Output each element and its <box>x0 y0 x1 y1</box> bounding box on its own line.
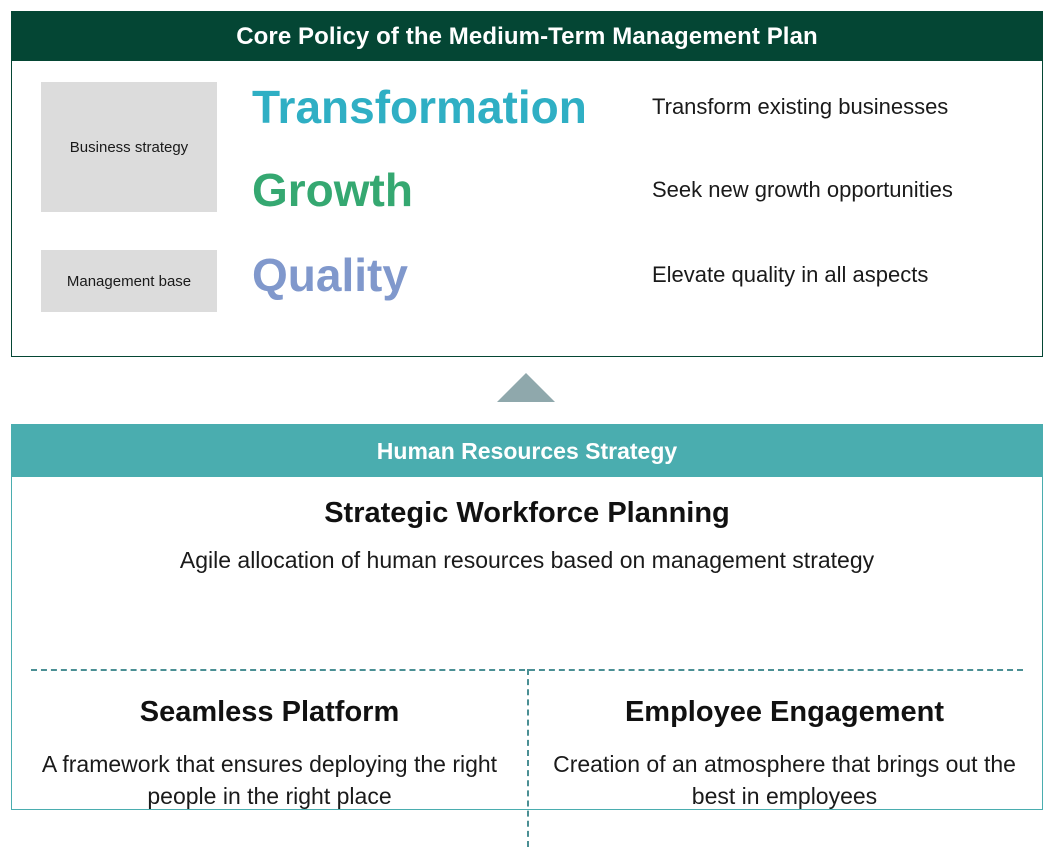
hr-strategy-panel: Human Resources Strategy Strategic Workf… <box>11 424 1043 810</box>
core-policy-content: Business strategy Management base Transf… <box>12 61 1042 356</box>
hr-column-employee-engagement-title: Employee Engagement <box>541 695 1028 730</box>
pillar-description-quality: Elevate quality in all aspects <box>652 262 928 288</box>
strategic-workforce-planning-block: Strategic Workforce Planning Agile alloc… <box>12 495 1042 574</box>
tag-business-strategy: Business strategy <box>41 82 217 212</box>
core-policy-title: Core Policy of the Medium-Term Managemen… <box>236 23 818 51</box>
pillar-description-transformation: Transform existing businesses <box>652 94 948 120</box>
hr-strategy-title-bar: Human Resources Strategy <box>12 425 1042 477</box>
hr-column-seamless-platform-title: Seamless Platform <box>26 695 513 730</box>
pillar-keyword-transformation: Transformation <box>252 84 652 130</box>
pillar-row-transformation: Transformation Transform existing busine… <box>252 79 1032 135</box>
hr-column-employee-engagement-description: Creation of an atmosphere that brings ou… <box>541 748 1028 813</box>
strategic-workforce-planning-description: Agile allocation of human resources base… <box>12 547 1042 574</box>
pillar-description-growth: Seek new growth opportunities <box>652 177 953 203</box>
tag-management-base-label: Management base <box>67 273 191 290</box>
hr-column-seamless-platform-description: A framework that ensures deploying the r… <box>26 748 513 813</box>
triangle-up-icon <box>497 373 555 402</box>
hr-strategy-content: Strategic Workforce Planning Agile alloc… <box>12 477 1042 809</box>
hr-column-seamless-platform: Seamless Platform A framework that ensur… <box>12 695 527 813</box>
tag-business-strategy-label: Business strategy <box>70 139 188 156</box>
tag-management-base: Management base <box>41 250 217 312</box>
strategic-workforce-planning-title: Strategic Workforce Planning <box>12 495 1042 531</box>
core-policy-title-bar: Core Policy of the Medium-Term Managemen… <box>12 12 1042 61</box>
hr-column-employee-engagement: Employee Engagement Creation of an atmos… <box>527 695 1042 813</box>
pillar-row-quality: Quality Elevate quality in all aspects <box>252 247 1032 303</box>
hr-strategy-title: Human Resources Strategy <box>377 438 677 465</box>
pillar-row-growth: Growth Seek new growth opportunities <box>252 162 1032 218</box>
pillar-keyword-quality: Quality <box>252 252 652 298</box>
core-policy-panel: Core Policy of the Medium-Term Managemen… <box>11 11 1043 357</box>
pillar-keyword-growth: Growth <box>252 167 652 213</box>
